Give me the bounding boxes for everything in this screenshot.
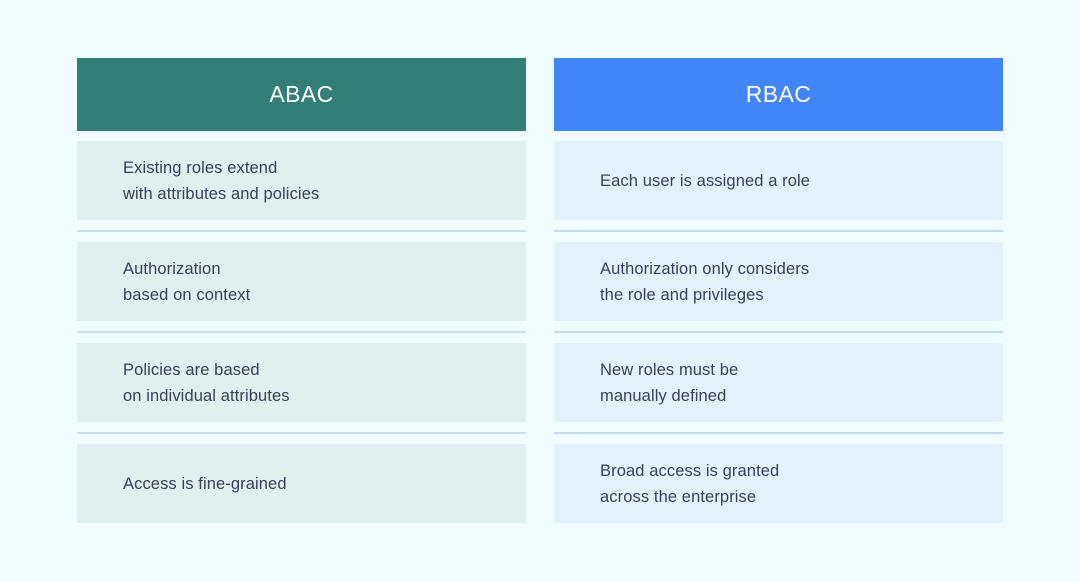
feature-cell: Access is fine-grained	[77, 444, 526, 523]
feature-cell-text: New roles must be manually defined	[600, 357, 738, 409]
feature-cell: Policies are based on individual attribu…	[77, 343, 526, 422]
feature-cell: Broad access is granted across the enter…	[554, 444, 1003, 523]
row-item: Each user is assigned a role	[554, 141, 1003, 220]
column-header-abac: ABAC	[77, 58, 526, 131]
feature-cell-text: Access is fine-grained	[123, 471, 287, 497]
row-item: New roles must be manually defined	[554, 343, 1003, 422]
feature-cell-text: Broad access is granted across the enter…	[600, 458, 779, 510]
row-item: Policies are based on individual attribu…	[77, 343, 526, 422]
feature-cell: Existing roles extend with attributes an…	[77, 141, 526, 220]
column-header-rbac: RBAC	[554, 58, 1003, 131]
row-divider	[77, 331, 526, 333]
comparison-column-abac: ABAC Existing roles extend with attribut…	[77, 58, 526, 523]
feature-cell-text: Authorization based on context	[123, 256, 250, 308]
column-rows-abac: Existing roles extend with attributes an…	[77, 141, 526, 523]
feature-cell: Authorization based on context	[77, 242, 526, 321]
row-divider	[77, 432, 526, 434]
feature-cell: Authorization only considers the role an…	[554, 242, 1003, 321]
row-divider	[554, 230, 1003, 232]
feature-cell: Each user is assigned a role	[554, 141, 1003, 220]
feature-cell-text: Existing roles extend with attributes an…	[123, 155, 319, 207]
row-divider	[554, 331, 1003, 333]
feature-cell: New roles must be manually defined	[554, 343, 1003, 422]
row-divider	[554, 432, 1003, 434]
feature-cell-text: Policies are based on individual attribu…	[123, 357, 290, 409]
row-divider	[77, 230, 526, 232]
row-item: Existing roles extend with attributes an…	[77, 141, 526, 220]
row-item: Broad access is granted across the enter…	[554, 444, 1003, 523]
column-rows-rbac: Each user is assigned a role Authorizati…	[554, 141, 1003, 523]
comparison-diagram: ABAC Existing roles extend with attribut…	[0, 0, 1080, 582]
row-item: Authorization based on context	[77, 242, 526, 321]
row-item: Access is fine-grained	[77, 444, 526, 523]
feature-cell-text: Each user is assigned a role	[600, 168, 810, 194]
feature-cell-text: Authorization only considers the role an…	[600, 256, 809, 308]
comparison-column-rbac: RBAC Each user is assigned a role Author…	[554, 58, 1003, 523]
row-item: Authorization only considers the role an…	[554, 242, 1003, 321]
